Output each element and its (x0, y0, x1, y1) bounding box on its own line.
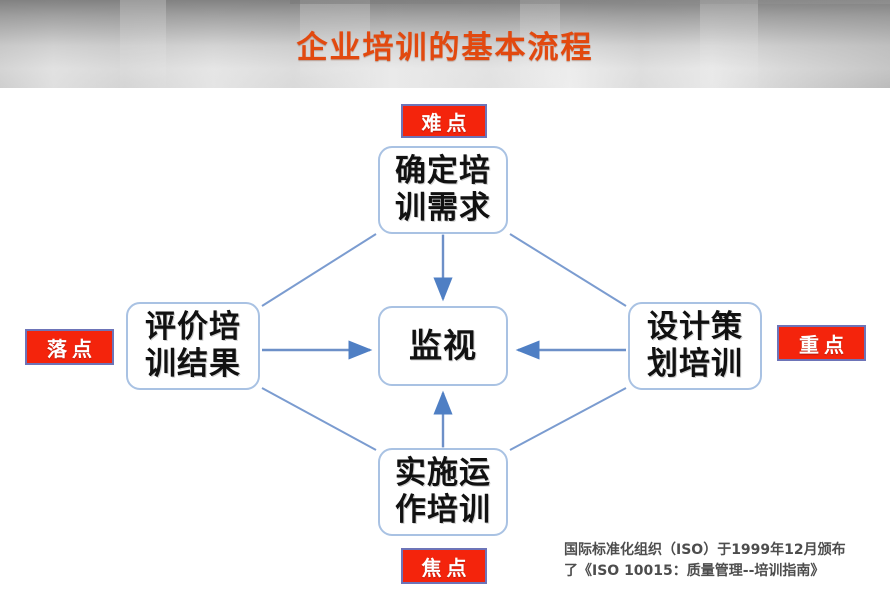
process-node-label: 评价培 训结果 (145, 309, 241, 382)
banner-top-edge (290, 0, 890, 4)
emphasis-tag-focus-point: 焦点 (401, 548, 487, 584)
process-node-evaluate-results[interactable]: 评价培 训结果 (126, 302, 260, 390)
emphasis-tag-landing-point: 落点 (25, 329, 114, 365)
emphasis-tag-label: 落点 (42, 333, 97, 362)
process-node-label: 实施运 作培训 (395, 455, 491, 528)
connector-left-to-top (262, 234, 376, 306)
title-banner: 企业培训的基本流程 (0, 0, 890, 88)
process-node-identify-needs[interactable]: 确定培 训需求 (378, 146, 508, 234)
connector-top-to-right (510, 234, 626, 306)
emphasis-tag-label: 焦点 (417, 552, 472, 581)
emphasis-tag-key-point: 重点 (777, 325, 866, 361)
emphasis-tag-label: 重点 (794, 329, 849, 358)
process-node-label: 确定培 训需求 (395, 153, 491, 226)
process-node-label: 设计策 划培训 (647, 309, 743, 382)
process-diagram: 确定培 训需求 评价培 训结果 监视 设计策 划培训 实施运 作培训 难点 落点… (0, 88, 890, 595)
process-node-label: 监视 (409, 327, 477, 366)
footnote: 国际标准化组织（ISO）于1999年12月颁布 了《ISO 10015：质量管理… (564, 540, 882, 582)
page-title: 企业培训的基本流程 (0, 22, 890, 67)
process-node-design-plan[interactable]: 设计策 划培训 (628, 302, 762, 390)
footnote-line-1: 国际标准化组织（ISO）于1999年12月颁布 (564, 540, 882, 561)
process-node-monitor[interactable]: 监视 (378, 306, 508, 386)
connector-bottom-to-left (262, 388, 376, 450)
emphasis-tag-difficulty: 难点 (401, 104, 487, 138)
footnote-line-2: 了《ISO 10015：质量管理--培训指南》 (564, 561, 882, 582)
connector-right-to-bottom (510, 388, 626, 450)
emphasis-tag-label: 难点 (417, 107, 472, 136)
process-node-implement[interactable]: 实施运 作培训 (378, 448, 508, 536)
